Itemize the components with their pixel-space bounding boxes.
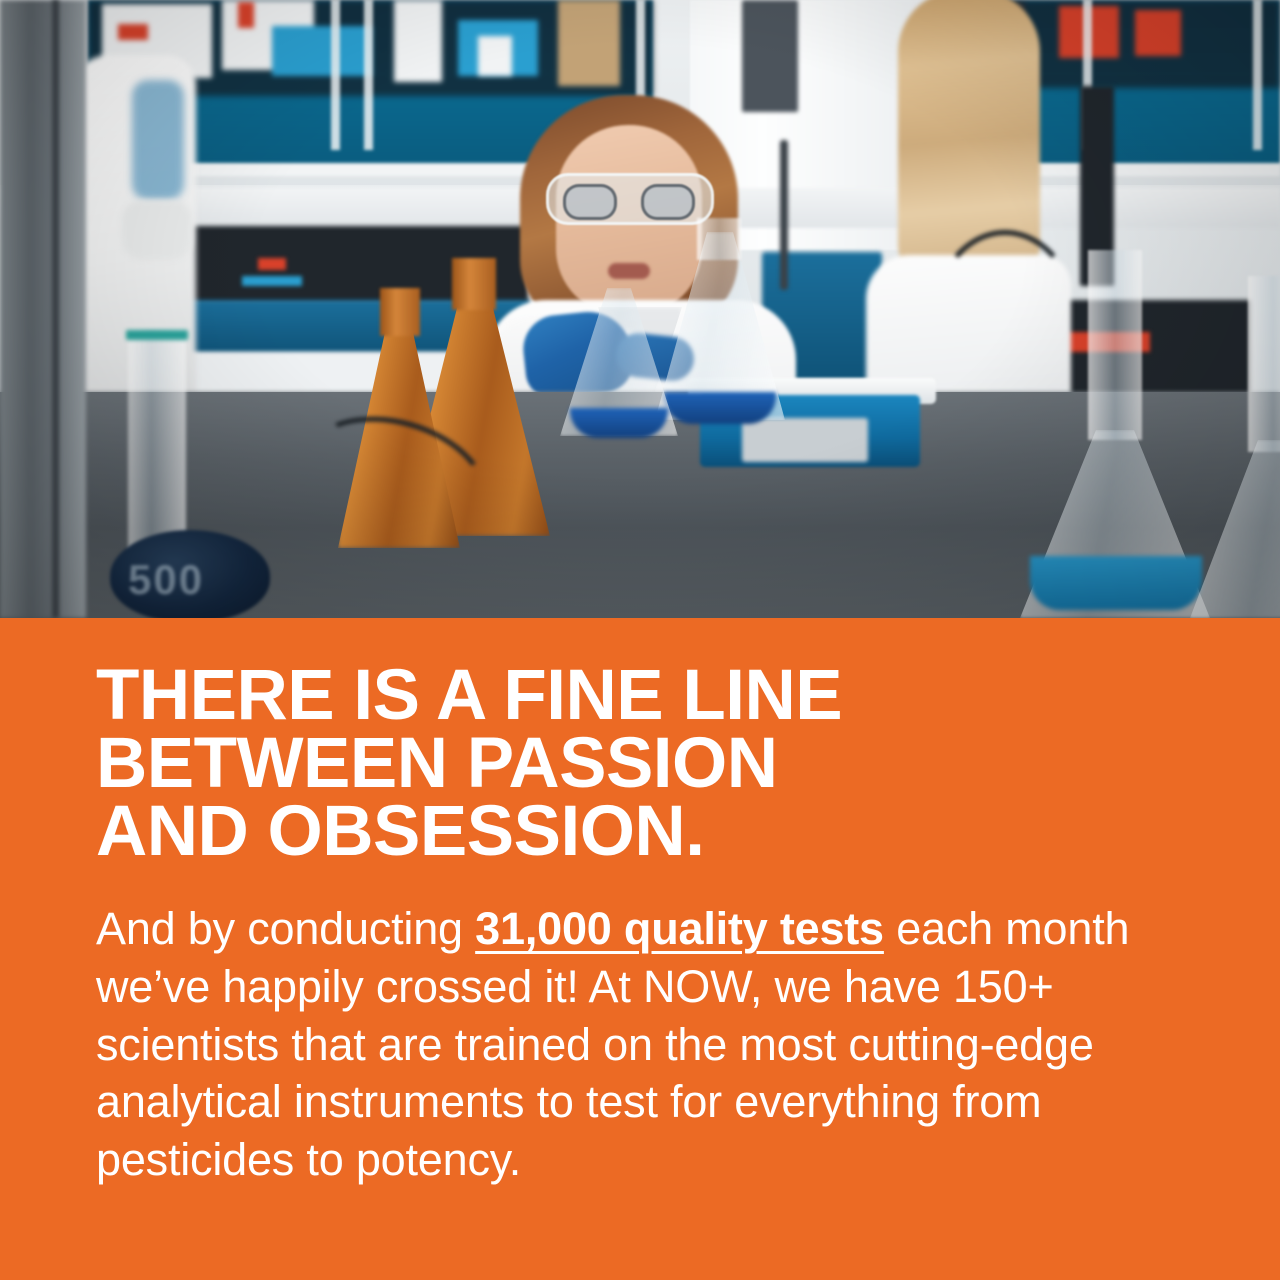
body-copy-before: And by conducting [96, 903, 475, 954]
stand-rod [780, 140, 788, 290]
quality-tests-emphasis: 31,000 quality tests [475, 903, 884, 954]
promo-card: 500 There is a fine line between passion… [0, 0, 1280, 1280]
amber-flask-neck [380, 288, 420, 336]
flask-liquid-blue [664, 392, 776, 424]
safety-goggles-icon [546, 173, 714, 225]
shelf-label-red [118, 24, 148, 40]
headline-line-2: between passion [96, 730, 996, 798]
lab-scene: 500 [0, 0, 1280, 618]
flask-neck [1088, 250, 1142, 440]
amber-flask-neck [452, 258, 496, 310]
shelf-label-red [238, 2, 254, 28]
flask-500ml: 500 [110, 530, 270, 618]
scientist-mouth [608, 263, 650, 279]
goggle-lens [563, 184, 617, 220]
flask-liquid-blue [570, 408, 668, 438]
flask-liquid-cyan [1030, 556, 1202, 610]
lab-photo: 500 [0, 0, 1280, 618]
flask-neck [697, 218, 741, 260]
shelf-label-red [1135, 10, 1181, 56]
cabinet-door-edge [1253, 0, 1262, 150]
structural-column-seam [52, 0, 59, 618]
shelf-box [394, 0, 442, 82]
cabinet-door-edge [331, 0, 340, 150]
cabinet-door-edge [364, 0, 373, 150]
structural-column [0, 0, 86, 618]
headline-line-3: and obsession. [96, 798, 996, 866]
person-left-accent [132, 80, 184, 200]
goggle-lens [641, 184, 695, 220]
shelf-box-tan [558, 0, 620, 86]
flask-neck [1248, 276, 1280, 452]
body-copy: And by conducting 31,000 quality tests e… [96, 900, 1171, 1188]
cylinder-band-teal [126, 330, 188, 340]
flask-volume-label: 500 [128, 556, 204, 604]
indicator-light [258, 258, 286, 270]
graduated-cylinder-icon [128, 330, 186, 554]
headline-line-1: There is a fine line [96, 662, 996, 730]
hose-cable [930, 230, 1080, 420]
orange-message-panel: There is a fine line between passion and… [0, 618, 1280, 1280]
shelf-box [478, 36, 512, 76]
person-left-arm [122, 200, 192, 260]
shelf-box-blue [272, 26, 372, 76]
indicator-strip [242, 276, 302, 286]
page-title: There is a fine line between passion and… [96, 662, 996, 866]
hot-plate-panel [742, 418, 868, 462]
